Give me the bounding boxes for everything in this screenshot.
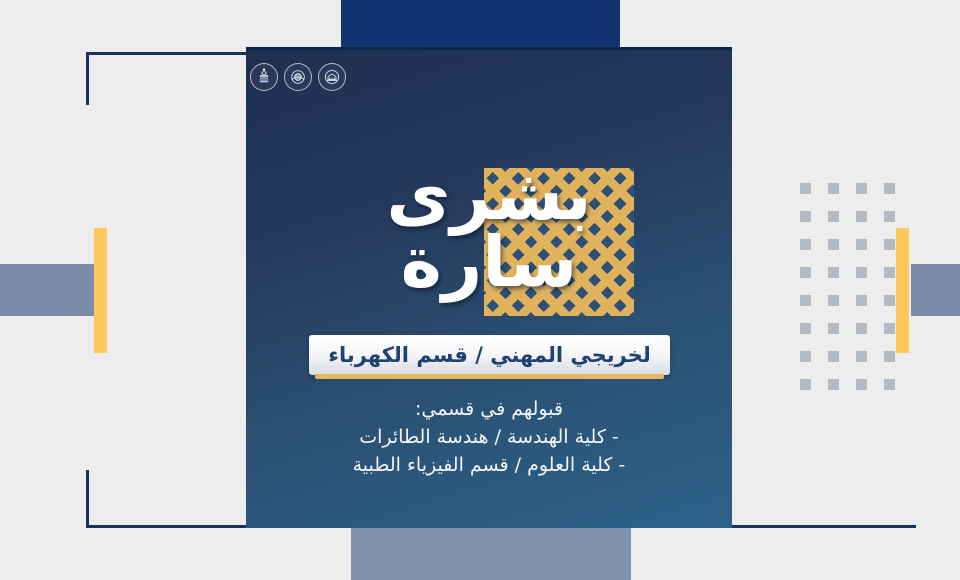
frame-left-top-horizontal (86, 52, 251, 55)
headline-line-1: بشرى (246, 162, 732, 229)
dot-grid-cell (800, 239, 811, 250)
dot-grid-cell (828, 351, 839, 362)
dot-grid-cell (800, 183, 811, 194)
headline-zone: بشرى سارة (246, 160, 732, 320)
poster-body-line: قبولهم في قسمي: (246, 395, 732, 423)
dot-grid-pattern (800, 183, 912, 407)
dot-grid-cell (828, 183, 839, 194)
dot-grid-cell (884, 211, 895, 222)
poster-body-line: - كلية العلوم / قسم الفيزياء الطبية (246, 451, 732, 479)
right-slate-rectangle (911, 264, 960, 316)
dot-grid-cell (856, 183, 867, 194)
dot-grid-cell (800, 267, 811, 278)
poster-body-line: - كلية الهندسة / هندسة الطائرات (246, 423, 732, 451)
dot-grid-cell (828, 267, 839, 278)
poster-card: بشرى سارة لخريجي المهني / قسم الكهرباء ق… (246, 50, 732, 528)
ministry-emblem-icon (250, 63, 278, 91)
dot-grid-cell (856, 323, 867, 334)
left-slate-rectangle (0, 264, 94, 316)
left-yellow-bar (94, 228, 107, 353)
dot-grid-cell (884, 323, 895, 334)
dot-grid-cell (828, 239, 839, 250)
subtitle-ribbon-label: لخريجي المهني / قسم الكهرباء (328, 343, 650, 367)
dot-grid-cell (884, 267, 895, 278)
dot-grid-cell (856, 239, 867, 250)
dot-grid-cell (828, 295, 839, 306)
poster-canvas: بشرى سارة لخريجي المهني / قسم الكهرباء ق… (0, 0, 960, 580)
logo-row (250, 63, 346, 91)
dot-grid-cell (800, 323, 811, 334)
dot-grid-cell (856, 267, 867, 278)
poster-headline: بشرى سارة (246, 160, 732, 320)
subtitle-ribbon: لخريجي المهني / قسم الكهرباء (309, 335, 670, 375)
dot-grid-cell (800, 295, 811, 306)
frame-left-top-vertical (86, 52, 89, 105)
dot-grid-cell (884, 379, 895, 390)
dot-grid-cell (800, 379, 811, 390)
dot-grid-cell (884, 351, 895, 362)
university-emblem-icon (318, 63, 346, 91)
poster-body-text: قبولهم في قسمي:- كلية الهندسة / هندسة ال… (246, 395, 732, 479)
dot-grid-cell (800, 351, 811, 362)
dot-grid-cell (856, 295, 867, 306)
authority-emblem-icon (284, 63, 312, 91)
dot-grid-cell (828, 211, 839, 222)
dot-grid-cell (856, 211, 867, 222)
frame-left-bottom-vertical (86, 470, 89, 528)
dot-grid-cell (828, 379, 839, 390)
dot-grid-cell (884, 183, 895, 194)
dot-grid-cell (884, 295, 895, 306)
dot-grid-cell (856, 379, 867, 390)
top-navy-bar (341, 0, 620, 48)
dot-grid-cell (800, 211, 811, 222)
headline-line-2: سارة (246, 229, 732, 296)
dot-grid-cell (884, 239, 895, 250)
dot-grid-cell (856, 351, 867, 362)
dot-grid-cell (828, 323, 839, 334)
